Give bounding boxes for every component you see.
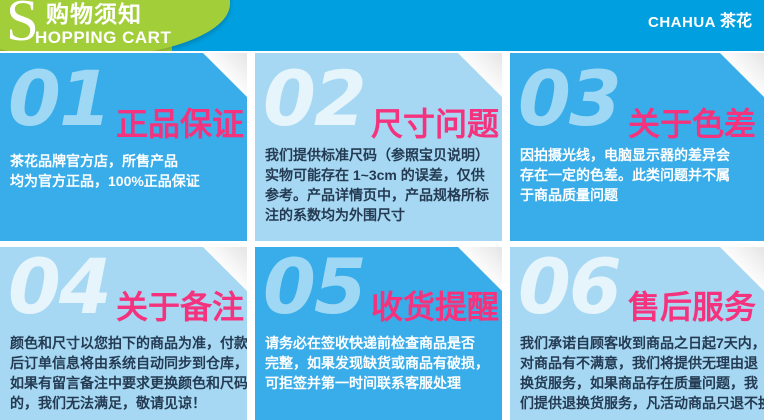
card-title: 售后服务 [628, 291, 756, 323]
card-number: 03 [518, 61, 620, 137]
card-body: 请务必在签收快递前检查商品是否 完整，如果发现缺货或商品有破损， 可拒签并第一时… [265, 333, 494, 393]
card-title: 关于色差 [628, 108, 756, 140]
folded-corner-shadow [720, 53, 764, 97]
card-body-line: 我们提供标准尺码（参照宝贝说明） [265, 145, 494, 165]
card-body-line: 们提供退换货服务，凡活动商品只退不换 [520, 393, 756, 413]
card-body-line: 对商品有不满意，我们将提供无理由退 [520, 353, 756, 373]
card-body-line: 请务必在签收快递前检查商品是否 [265, 333, 494, 353]
card-body-line: 实物可能存在 1~3cm 的误差，仅供 [265, 165, 494, 185]
card-body: 我们承诺自顾客收到商品之日起7天内， 对商品有不满意，我们将提供无理由退 换货服… [520, 333, 756, 413]
card-body-line: 茶花品牌官方店，所售产品 [10, 151, 239, 171]
header-s-initial: S [6, 0, 39, 50]
card-number: 02 [263, 61, 365, 137]
card-body: 我们提供标准尺码（参照宝贝说明） 实物可能存在 1~3cm 的误差，仅供 参考。… [265, 145, 494, 225]
card-body-line: 颜色和尺寸以您拍下的商品为准，付款 [10, 333, 239, 353]
brand-logo-en: CHAHUA [648, 15, 716, 30]
page-title-en: HOPPING CART [35, 29, 171, 46]
header-banner: S 购物须知 HOPPING CART CHAHUA 茶花 [0, 0, 764, 51]
card-title: 正品保证 [116, 108, 244, 140]
notice-card: 03 关于色差 因拍摄光线，电脑显示器的差异会 存在一定的色差。此类问题并不属 … [510, 53, 764, 241]
folded-corner-shadow [203, 247, 247, 291]
page-title-cn: 购物须知 [46, 3, 142, 26]
card-body-line: 我们承诺自顾客收到商品之日起7天内， [520, 333, 756, 353]
card-body: 茶花品牌官方店，所售产品 均为官方正品，100%正品保证 [10, 151, 239, 191]
card-body: 因拍摄光线，电脑显示器的差异会 存在一定的色差。此类问题并不属 于商品质量问题 [520, 145, 756, 205]
card-body-line: 换货服务，如果商品存在质量问题，我 [520, 373, 756, 393]
folded-corner-shadow [458, 53, 502, 97]
card-number: 06 [518, 249, 620, 325]
card-title: 收货提醒 [371, 291, 499, 323]
card-number: 04 [8, 249, 110, 325]
card-body-line: 存在一定的色差。此类问题并不属 [520, 165, 756, 185]
notice-card-grid: 01 正品保证 茶花品牌官方店，所售产品 均为官方正品，100%正品保证 02 … [0, 53, 764, 420]
card-body-line: 如果有留言备注中要求更换颜色和尺码 [10, 373, 239, 393]
card-body-line: 可拒签并第一时间联系客服处理 [265, 373, 494, 393]
notice-card: 02 尺寸问题 我们提供标准尺码（参照宝贝说明） 实物可能存在 1~3cm 的误… [255, 53, 502, 241]
card-body-line: 后订单信息将由系统自动同步到仓库， [10, 353, 239, 373]
card-body-line: 均为官方正品，100%正品保证 [10, 171, 239, 191]
card-number: 05 [263, 249, 365, 325]
notice-card: 04 关于备注 颜色和尺寸以您拍下的商品为准，付款 后订单信息将由系统自动同步到… [0, 247, 247, 420]
notice-card: 01 正品保证 茶花品牌官方店，所售产品 均为官方正品，100%正品保证 [0, 53, 247, 241]
card-number: 01 [8, 61, 110, 137]
card-title: 尺寸问题 [371, 108, 499, 140]
card-body-line: 的，我们无法满足，敬请见谅！ [10, 393, 239, 413]
card-body-line: 因拍摄光线，电脑显示器的差异会 [520, 145, 756, 165]
card-title: 关于备注 [116, 291, 244, 323]
folded-corner-shadow [720, 247, 764, 291]
folded-corner-shadow [203, 53, 247, 97]
shopping-notice-graphic: S 购物须知 HOPPING CART CHAHUA 茶花 01 正品保证 茶花… [0, 0, 764, 420]
folded-corner-shadow [458, 247, 502, 291]
brand-logo-cn: 茶花 [720, 14, 752, 30]
notice-card: 05 收货提醒 请务必在签收快递前检查商品是否 完整，如果发现缺货或商品有破损，… [255, 247, 502, 420]
card-body-line: 完整，如果发现缺货或商品有破损， [265, 353, 494, 373]
notice-card: 06 售后服务 我们承诺自顾客收到商品之日起7天内， 对商品有不满意，我们将提供… [510, 247, 764, 420]
card-body: 颜色和尺寸以您拍下的商品为准，付款 后订单信息将由系统自动同步到仓库， 如果有留… [10, 333, 239, 413]
card-body-line: 于商品质量问题 [520, 185, 756, 205]
brand-logo: CHAHUA 茶花 [648, 14, 752, 30]
card-body-line: 参考。产品详情页中，产品规格所标 [265, 185, 494, 205]
card-body-line: 注的系数均为外围尺寸 [265, 205, 494, 225]
